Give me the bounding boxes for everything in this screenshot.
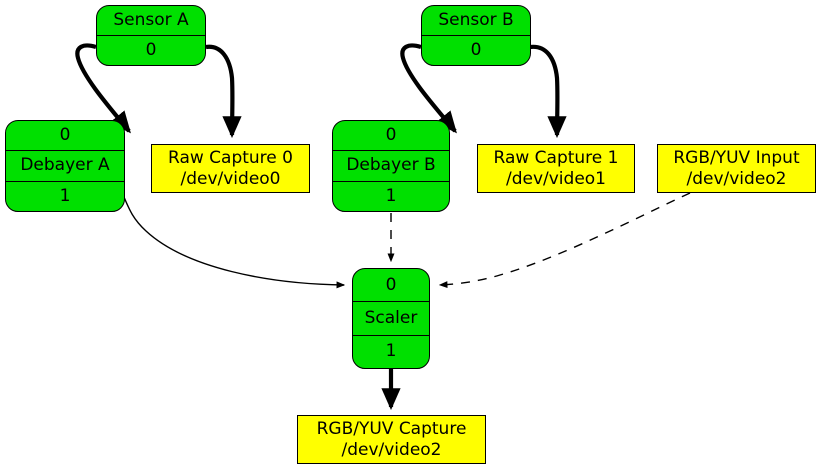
node-rgb-yuv-input-device: /dev/video2 xyxy=(686,169,786,190)
node-raw-capture-1[interactable]: Raw Capture 1 /dev/video1 xyxy=(477,144,635,193)
node-rgb-yuv-capture-label: RGB/YUV Capture xyxy=(317,419,467,440)
node-rgb-yuv-capture-device: /dev/video2 xyxy=(341,440,441,461)
node-scaler-pad-sink: 0 xyxy=(353,269,429,302)
node-sensor-b[interactable]: Sensor B 0 xyxy=(421,5,531,66)
node-debayer-a-pad-sink: 0 xyxy=(6,121,124,151)
node-raw-capture-0[interactable]: Raw Capture 0 /dev/video0 xyxy=(151,144,310,193)
node-scaler-pad-source: 1 xyxy=(353,335,429,368)
node-sensor-b-title: Sensor B xyxy=(422,6,530,36)
node-rgb-yuv-input[interactable]: RGB/YUV Input /dev/video2 xyxy=(657,144,816,193)
node-scaler[interactable]: 0 Scaler 1 xyxy=(352,268,430,369)
edge-sensor-b-to-raw-capture-1 xyxy=(530,47,557,135)
node-debayer-b-pad-sink: 0 xyxy=(333,121,449,151)
node-raw-capture-1-label: Raw Capture 1 xyxy=(494,148,619,169)
node-debayer-b[interactable]: 0 Debayer B 1 xyxy=(332,120,450,212)
node-sensor-a-title: Sensor A xyxy=(97,6,205,36)
node-raw-capture-1-device: /dev/video1 xyxy=(506,169,606,190)
media-pipeline-diagram: Sensor A 0 Sensor B 0 0 Debayer A 1 0 De… xyxy=(0,0,821,472)
node-sensor-b-pad-source: 0 xyxy=(422,36,530,65)
node-debayer-a-pad-source: 1 xyxy=(6,181,124,211)
node-sensor-a-pad-source: 0 xyxy=(97,36,205,65)
node-sensor-a[interactable]: Sensor A 0 xyxy=(96,5,206,66)
node-raw-capture-0-label: Raw Capture 0 xyxy=(168,148,293,169)
node-rgb-yuv-capture[interactable]: RGB/YUV Capture /dev/video2 xyxy=(297,415,486,464)
node-rgb-yuv-input-label: RGB/YUV Input xyxy=(673,148,799,169)
node-debayer-a-title: Debayer A xyxy=(6,151,124,180)
node-scaler-title: Scaler xyxy=(353,302,429,334)
node-debayer-b-pad-source: 1 xyxy=(333,181,449,211)
node-debayer-b-title: Debayer B xyxy=(333,151,449,180)
edge-layer xyxy=(0,0,821,472)
edge-rgb-yuv-input-to-scaler xyxy=(440,193,690,285)
edge-sensor-a-to-raw-capture-0 xyxy=(206,47,232,135)
node-debayer-a[interactable]: 0 Debayer A 1 xyxy=(5,120,125,212)
edge-debayer-a-to-scaler xyxy=(124,197,344,285)
node-raw-capture-0-device: /dev/video0 xyxy=(180,169,280,190)
